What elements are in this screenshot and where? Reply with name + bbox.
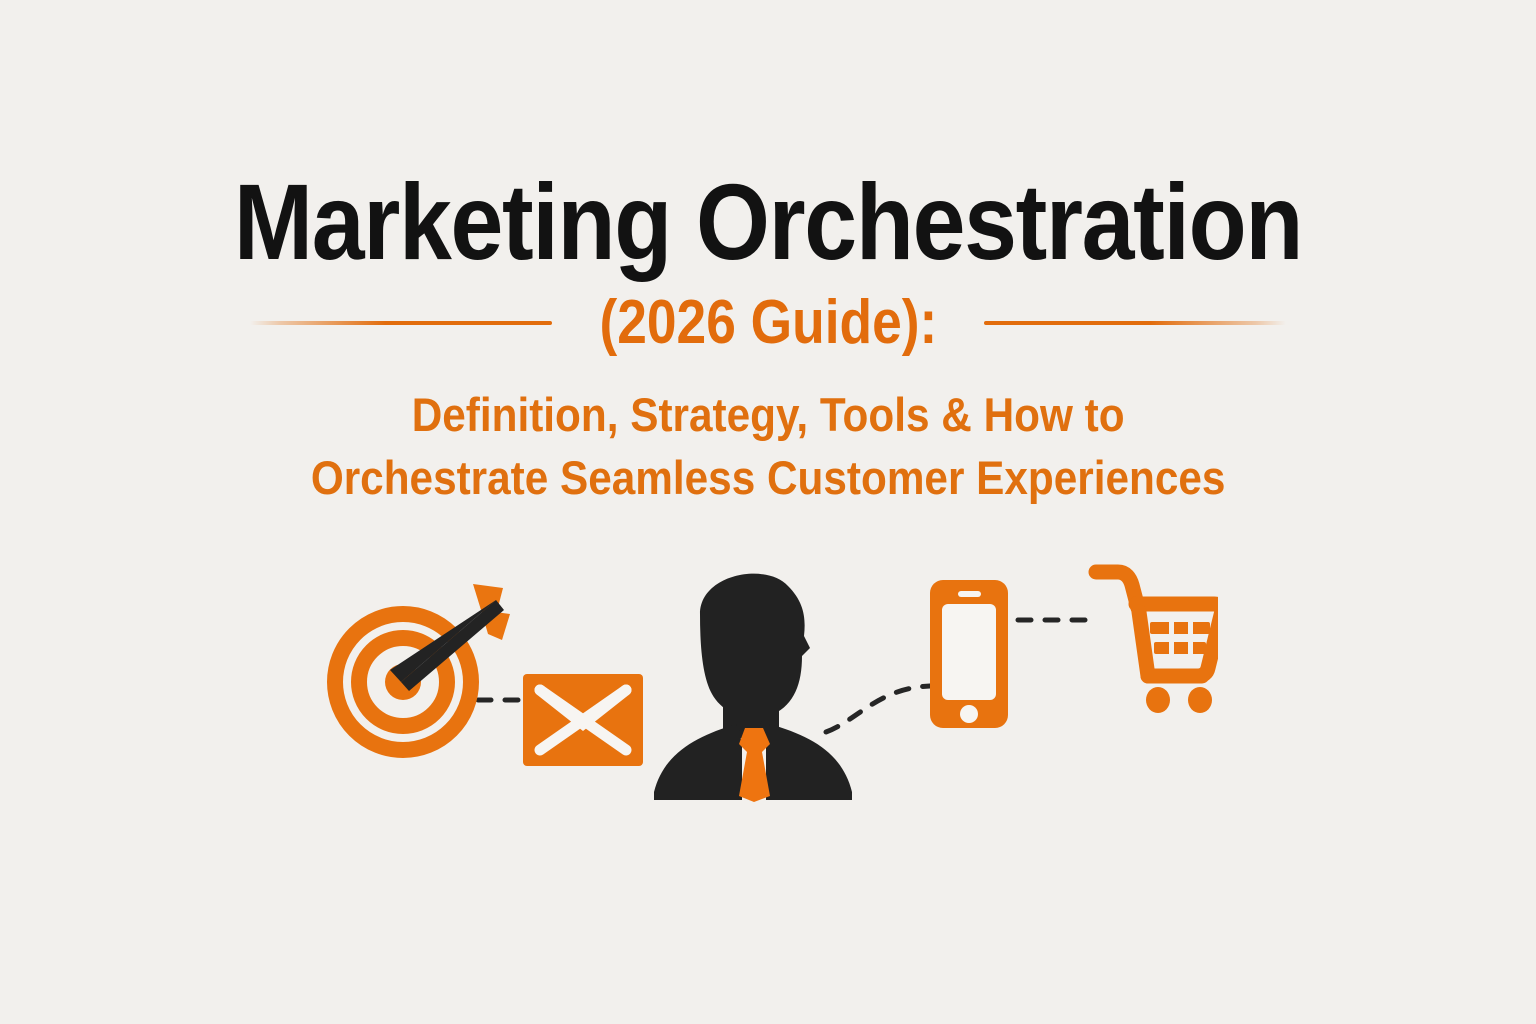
shopping-cart-icon	[1096, 572, 1218, 713]
divider-rule-left	[250, 321, 552, 325]
subtitle-line-2: Orchestrate Seamless Customer Experience…	[311, 447, 1226, 510]
hero-banner: Marketing Orchestration (2026 Guide): De…	[0, 0, 1536, 1024]
connector-customer-to-mobile	[826, 686, 930, 732]
subtitle-block: Definition, Strategy, Tools & How to Orc…	[260, 384, 1276, 510]
target-bullseye-arrow-icon	[335, 584, 510, 750]
page-title: Marketing Orchestration	[92, 168, 1444, 276]
envelope-icon	[523, 674, 643, 766]
customer-journey-illustration	[318, 552, 1218, 802]
title-block: Marketing Orchestration	[0, 168, 1536, 276]
subtitle-line-1: Definition, Strategy, Tools & How to	[311, 384, 1226, 447]
business-person-silhouette-icon	[654, 574, 852, 802]
guide-divider-row: (2026 Guide):	[250, 292, 1286, 354]
smartphone-icon	[930, 580, 1008, 728]
guide-year-label: (2026 Guide):	[594, 292, 942, 354]
divider-rule-right	[984, 321, 1286, 325]
